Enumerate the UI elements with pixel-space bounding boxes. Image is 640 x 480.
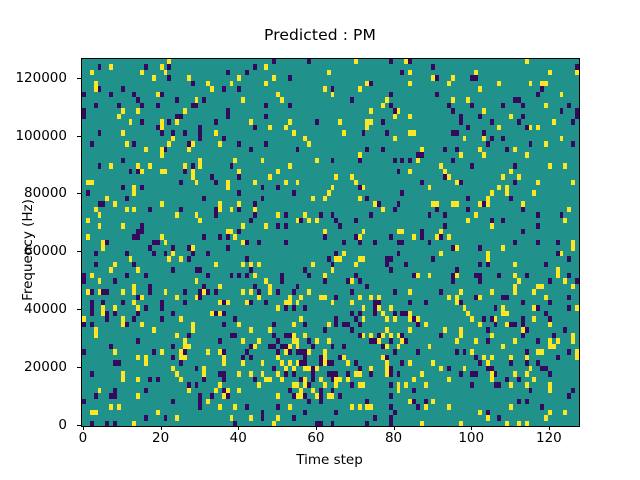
x-tick-mark [161,426,162,430]
x-tick-label: 20 [152,430,169,446]
y-tick-label: 0 [58,417,67,433]
x-tick-mark [394,426,395,430]
x-tick-mark [83,426,84,430]
y-tick-label: 120000 [15,70,67,86]
x-tick-mark [549,426,550,430]
y-tick-mark [77,136,81,137]
y-tick-mark [77,193,81,194]
y-tick-mark [77,78,81,79]
heatmap-image [82,59,579,426]
x-tick-label: 100 [458,430,484,446]
x-tick-label: 60 [307,430,324,446]
x-tick-mark [316,426,317,430]
y-tick-label: 20000 [24,359,67,375]
chart-title: Predicted : PM [0,26,640,44]
y-axis-label: Frequency (Hz) [20,170,36,330]
x-tick-mark [471,426,472,430]
y-tick-mark [77,251,81,252]
y-tick-mark [77,367,81,368]
x-tick-label: 80 [385,430,402,446]
x-tick-label: 120 [536,430,562,446]
y-tick-label: 100000 [15,128,67,144]
x-axis-label: Time step [81,452,578,468]
heatmap-plot-area[interactable] [81,58,580,427]
y-tick-mark [77,309,81,310]
figure-canvas: Predicted : PM 0200004000060000800001000… [0,0,640,480]
x-tick-label: 40 [230,430,247,446]
x-tick-mark [238,426,239,430]
y-tick-mark [77,425,81,426]
x-tick-label: 0 [79,430,88,446]
